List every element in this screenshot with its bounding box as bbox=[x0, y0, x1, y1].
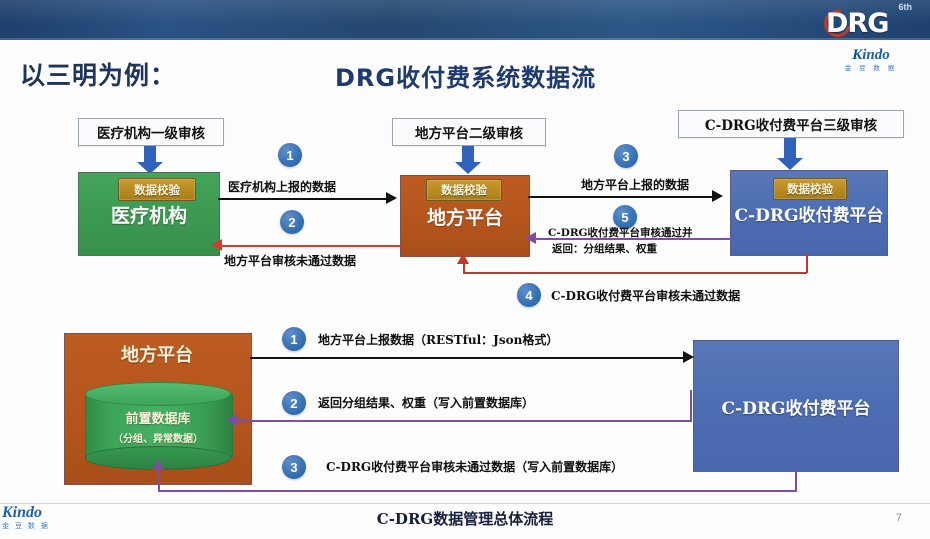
drg-logo-text: DRG bbox=[826, 8, 888, 39]
flow-arrowhead-4 bbox=[457, 253, 469, 264]
flow-line-2 bbox=[222, 245, 402, 247]
flow-badge-2: 2 bbox=[280, 210, 304, 234]
down-arrow-cdrg-platform bbox=[777, 138, 803, 172]
flow-badge-1: 1 bbox=[278, 143, 302, 167]
kindo-logo-sub: 金 豆 数 据 bbox=[828, 66, 914, 73]
flow-label-3: 地方平台上报的数据 bbox=[581, 176, 689, 193]
database-label-secondary: （分组、异常数据） bbox=[113, 430, 203, 445]
bottom-flow-badge-3: 3 bbox=[282, 455, 306, 479]
lead-text: 以三明为例： bbox=[20, 56, 176, 92]
flow-line-1 bbox=[218, 198, 394, 200]
flow-label-1: 医疗机构上报的数据 bbox=[228, 178, 336, 195]
bottom-node-cdrg-platform-label: C-DRG收付费平台 bbox=[722, 394, 871, 419]
bottom-flow-badge-1: 1 bbox=[282, 327, 306, 351]
down-arrow-local-platform bbox=[455, 146, 481, 174]
flow-label-5-line1: C-DRG收付费平台审核通过并 bbox=[548, 225, 693, 240]
chip-data-validation-institution: 数据校验 bbox=[118, 178, 196, 201]
bottom-flow-line-2-horiz bbox=[237, 420, 692, 422]
chip-data-validation-local: 数据校验 bbox=[426, 179, 502, 201]
flow-line-4-horiz bbox=[463, 272, 807, 274]
bottom-flow-label-2: 返回分组结果、权重（写入前置数据库） bbox=[318, 394, 534, 411]
bottom-flow-badge-2: 2 bbox=[282, 391, 306, 415]
bottom-flow-line-3-vert-left bbox=[158, 468, 160, 491]
flow-label-4: C-DRG收付费平台审核未通过数据 bbox=[551, 287, 740, 304]
top-banner: DRG 6th bbox=[0, 0, 930, 40]
bottom-flow-line-3-horiz bbox=[158, 490, 797, 492]
kindo-logo-name: Kindo bbox=[828, 48, 914, 63]
footer-divider bbox=[0, 503, 930, 504]
bottom-flow-arrowhead-1 bbox=[683, 351, 694, 363]
kindo-logo: Kindo 金 豆 数 据 bbox=[828, 48, 914, 73]
flow-line-3 bbox=[528, 196, 718, 198]
bottom-node-cdrg-platform: C-DRG收付费平台 bbox=[693, 340, 899, 472]
flow-arrowhead-1 bbox=[386, 192, 397, 204]
header-box-cdrg-platform: C-DRG收付费平台三级审核 bbox=[678, 110, 904, 138]
header-box-institution: 医疗机构一级审核 bbox=[78, 118, 224, 146]
slide-canvas: DRG 6th 以三明为例： DRG收付费系统数据流 Kindo 金 豆 数 据… bbox=[0, 0, 930, 539]
bottom-flow-line-2-vert bbox=[690, 390, 692, 421]
bottom-flow-line-1 bbox=[250, 357, 690, 359]
drg-logo: DRG 6th bbox=[824, 2, 916, 40]
bottom-flow-arrowhead-3 bbox=[152, 459, 164, 470]
flow-line-4-vert-right bbox=[806, 254, 808, 273]
database-label-primary: 前置数据库 bbox=[125, 408, 190, 427]
flow-arrowhead-3 bbox=[712, 190, 723, 202]
header-box-local-platform-label: 地方平台二级审核 bbox=[415, 122, 523, 142]
bottom-flow-label-1: 地方平台上报数据（RESTful：Json格式） bbox=[318, 331, 558, 348]
flow-label-2: 地方平台审核未通过数据 bbox=[224, 252, 356, 269]
cylinder-label-group: 前置数据库 （分组、异常数据） bbox=[85, 382, 231, 470]
bottom-node-local-platform-label: 地方平台 bbox=[64, 341, 250, 367]
flow-arrowhead-5 bbox=[525, 232, 536, 244]
frontend-database-cylinder: 前置数据库 （分组、异常数据） bbox=[85, 382, 231, 470]
bottom-flow-arrowhead-2 bbox=[226, 414, 237, 426]
flow-arrowhead-2 bbox=[211, 239, 222, 251]
flow-badge-3: 3 bbox=[614, 144, 638, 168]
banner-sheen bbox=[0, 0, 930, 40]
node-cdrg-platform-label: C-DRG收付费平台 bbox=[735, 201, 884, 226]
chip-data-validation-cdrg: 数据校验 bbox=[773, 178, 847, 200]
down-arrow-institution bbox=[137, 146, 163, 174]
flow-label-5-line2: 返回：分组结果、权重 bbox=[552, 241, 657, 256]
node-medical-institution-label: 医疗机构 bbox=[111, 201, 187, 228]
header-box-institution-label: 医疗机构一级审核 bbox=[97, 122, 205, 142]
page-number: 7 bbox=[896, 512, 902, 524]
drg-logo-superscript: 6th bbox=[899, 2, 913, 12]
header-box-cdrg-platform-label: C-DRG收付费平台三级审核 bbox=[705, 114, 877, 134]
page-title: DRG收付费系统数据流 bbox=[335, 58, 596, 93]
flow-badge-4: 4 bbox=[517, 283, 541, 307]
footer-title: C-DRG数据管理总体流程 bbox=[0, 508, 930, 529]
bottom-flow-label-3: C-DRG收付费平台审核未通过数据（写入前置数据库） bbox=[326, 458, 623, 475]
header-box-local-platform: 地方平台二级审核 bbox=[392, 118, 546, 146]
bottom-flow-line-3-vert-right bbox=[795, 470, 797, 491]
node-local-platform-label: 地方平台 bbox=[427, 203, 503, 230]
